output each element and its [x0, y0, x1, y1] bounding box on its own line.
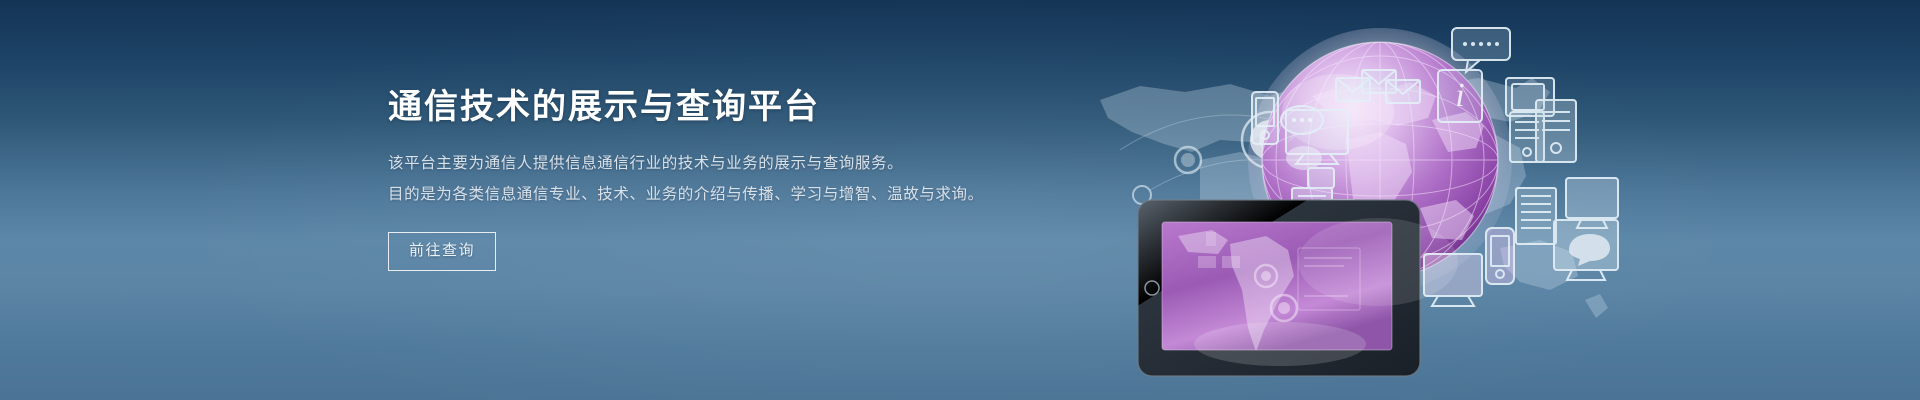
hero-subtitle-line-1: 该平台主要为通信人提供信息通信行业的技术与业务的展示与查询服务。 — [388, 148, 1168, 179]
svg-text:i: i — [1455, 77, 1464, 114]
hero-copy: 通信技术的展示与查询平台 该平台主要为通信人提供信息通信行业的技术与业务的展示与… — [388, 84, 1168, 271]
go-to-query-button[interactable]: 前往查询 — [388, 232, 496, 271]
monitor-chat-icon — [1554, 220, 1618, 280]
mobile-phone-icon-right — [1486, 228, 1514, 284]
mobile-phone-icon — [1252, 92, 1278, 144]
page-title: 通信技术的展示与查询平台 — [388, 84, 1168, 130]
hero-banner: i — [0, 0, 1920, 400]
info-icon: i — [1438, 70, 1482, 122]
server-list-icon — [1516, 188, 1556, 244]
cta-container: 前往查询 — [388, 232, 1168, 271]
hero-subtitle-line-2: 目的是为各类信息通信专业、技术、业务的介绍与传播、学习与增智、温故与求询。 — [388, 179, 1168, 210]
